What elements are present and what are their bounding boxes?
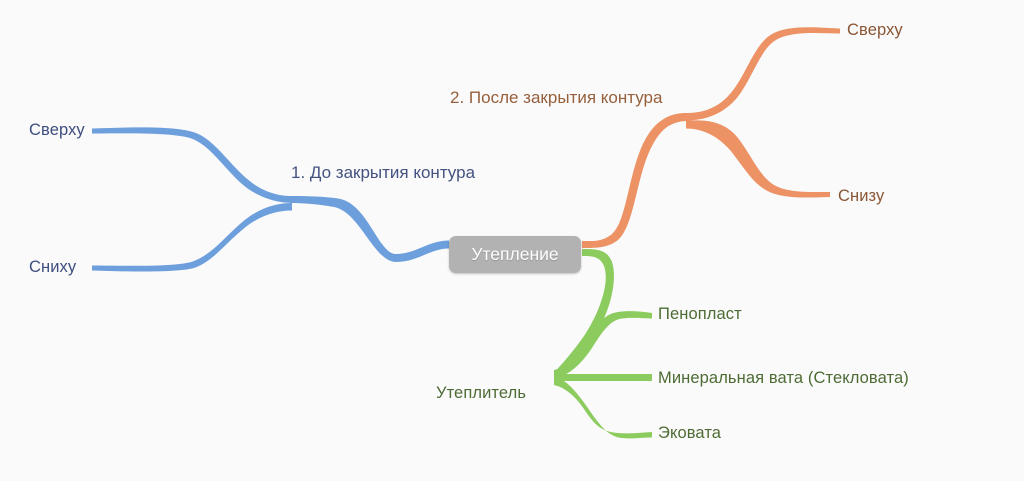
mindmap-canvas: Утепление 1. До закрытия контура 2. Посл… (0, 0, 1024, 481)
root-node-label: Утепление (471, 246, 558, 264)
blue-child-top-path (92, 127, 292, 203)
orange-child-top-path (686, 27, 840, 120)
node-green-child-3[interactable]: Эковата (658, 425, 721, 442)
blue-trunk-path (292, 196, 449, 262)
node-blue-bottom[interactable]: Сниху (29, 259, 76, 276)
node-orange-top[interactable]: Сверху (847, 22, 903, 39)
green-child-3-path (554, 378, 652, 439)
orange-trunk-path (582, 113, 686, 248)
root-node[interactable]: Утепление (449, 236, 581, 273)
branch-title-orange[interactable]: 2. После закрытия контура (450, 89, 662, 106)
blue-child-bottom-path (92, 203, 292, 272)
green-child-2-path (554, 374, 652, 381)
node-green-child-1[interactable]: Пенопласт (658, 306, 742, 323)
node-green-parent[interactable]: Утеплитель (436, 385, 526, 402)
node-green-child-2[interactable]: Минеральная вата (Стекловата) (658, 370, 909, 387)
green-child-1-path (554, 311, 652, 377)
branch-title-blue[interactable]: 1. До закрытия контура (291, 164, 475, 181)
orange-branch-group[interactable] (582, 27, 840, 248)
green-branch-group[interactable] (554, 249, 652, 438)
blue-branch-group[interactable] (92, 127, 449, 271)
orange-child-bottom-path (686, 120, 830, 197)
node-orange-bottom[interactable]: Снизу (838, 188, 884, 205)
node-blue-top[interactable]: Сверху (29, 122, 85, 139)
